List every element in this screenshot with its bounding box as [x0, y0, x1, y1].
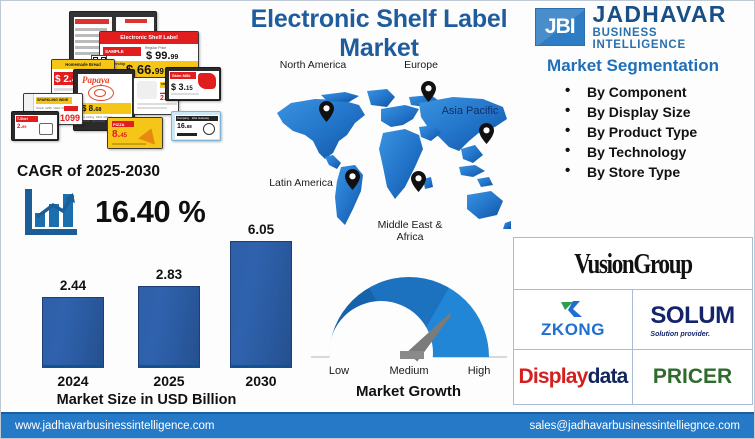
logo-company-name: JADHAVAR [593, 3, 753, 26]
pricer-wordmark: PRICER [653, 365, 732, 389]
vusiongroup-wordmark: VusionGroup [574, 247, 691, 280]
logo-zkong[interactable]: ZKONG [514, 290, 633, 349]
map-label-europe: Europe [391, 59, 451, 71]
bar-value-2024: 2.44 [42, 278, 104, 293]
displaydata-part-display: Display [518, 365, 587, 388]
bar-rect-2024 [42, 297, 104, 368]
zkong-mark-icon [560, 300, 586, 318]
zkong-wordmark: ZKONG [541, 320, 605, 340]
footer-bar: www.jadhavarbusinessintelligence.com sal… [1, 412, 754, 438]
infographic-root: Electronic Shelf Label SAMPLE Regular Pr… [0, 0, 755, 439]
map-label-latin-america: Latin America [261, 177, 341, 189]
jbi-logo-mark: JBI [535, 8, 585, 46]
bar-column-2024: 2.44 2024 [42, 297, 104, 368]
esl-product-image: Electronic Shelf Label SAMPLE Regular Pr… [7, 7, 225, 159]
bar-value-2025: 2.83 [138, 267, 200, 282]
gauge-tick-low: Low [309, 365, 369, 377]
logo-pricer[interactable]: PRICER [633, 350, 752, 404]
segmentation-item-technology: By Technology [565, 142, 753, 162]
bar-label-2024: 2024 [42, 373, 104, 389]
company-logo: JBI JADHAVAR BUSINESS INTELLIGENCE [535, 5, 753, 49]
bar-rect-2030 [230, 241, 292, 368]
map-label-asia-pacific: Asia Pacific [441, 105, 499, 119]
bar-rect-2025 [138, 286, 200, 368]
bar-chart-caption: Market Size in USD Billion [9, 392, 284, 408]
cagr-row: 16.40 % [23, 187, 205, 237]
esl-label-blue: Company ESL Gateway 16.88 [171, 111, 221, 141]
bar-chart-growth-icon [23, 187, 79, 237]
segmentation-title: Market Segmentation [513, 56, 753, 76]
bar-label-2030: 2030 [230, 373, 292, 389]
footer-email[interactable]: sales@jadhavarbusinessintelliegnce.com [530, 420, 740, 432]
bar-column-2030: 6.05 2030 [230, 241, 292, 368]
players-row-2: ZKONG SOLUM Solution provider. [514, 290, 752, 350]
logo-vusiongroup[interactable]: VusionGroup [514, 238, 752, 289]
logo-tagline: BUSINESS INTELLIGENCE [593, 28, 753, 51]
segmentation-item-component: By Component [565, 82, 753, 102]
displaydata-wordmark: Displaydata [518, 365, 627, 389]
gauge-tick-high: High [449, 365, 509, 377]
logo-solum[interactable]: SOLUM Solution provider. [633, 290, 752, 349]
segmentation-item-product-type: By Product Type [565, 122, 753, 142]
map-label-north-america: North America [267, 59, 359, 71]
map-pin-north-america[interactable] [319, 101, 334, 122]
segmentation-item-display-size: By Display Size [565, 102, 753, 122]
market-size-bar-chart: 2.44 2024 2.83 2025 6.05 2030 Market Siz… [9, 233, 289, 408]
solum-tagline: Solution provider. [650, 331, 710, 338]
gauge-tick-medium: Medium [379, 365, 439, 377]
displaydata-part-data: data [588, 365, 628, 388]
bar-column-2025: 2.83 2025 [138, 286, 200, 368]
jbi-logo-initials: JBI [545, 15, 575, 39]
esl-label-milk: Skim Milk $ 3.15 [165, 67, 221, 101]
gauge-caption: Market Growth [301, 383, 516, 400]
map-pin-middle-east-africa[interactable] [411, 171, 426, 192]
page-title: Electronic Shelf Label Market [229, 5, 529, 63]
map-label-middle-east-africa: Middle East & Africa [367, 219, 453, 243]
zkong-lockup: ZKONG [541, 300, 605, 340]
segmentation-list: By Component By Display Size By Product … [513, 82, 753, 182]
solum-lockup: SOLUM Solution provider. [650, 302, 734, 338]
market-growth-gauge: Low Medium High Market Growth [301, 273, 516, 408]
footer-website[interactable]: www.jadhavarbusinessintelligence.com [15, 420, 214, 432]
map-pin-asia-pacific[interactable] [479, 123, 494, 144]
solum-wordmark: SOLUM [650, 302, 734, 330]
key-players-grid: VusionGroup ZKONG SOLUM Sol [513, 237, 753, 405]
esl-label-pizza: PIZZA 8.45 [107, 117, 163, 149]
map-pin-europe[interactable] [421, 81, 436, 102]
market-segmentation-panel: Market Segmentation By Component By Disp… [513, 56, 753, 182]
world-map: North America Europe Asia Pacific Latin … [263, 59, 513, 255]
cagr-value: 16.40 % [95, 194, 205, 230]
gauge-needle-hub [400, 351, 424, 359]
map-pin-latin-america[interactable] [345, 169, 360, 190]
logo-wordmark: JADHAVAR BUSINESS INTELLIGENCE [593, 3, 753, 51]
segmentation-item-store-type: By Store Type [565, 162, 753, 182]
bar-label-2025: 2025 [138, 373, 200, 389]
logo-displaydata[interactable]: Displaydata [514, 350, 633, 404]
players-row-1: VusionGroup [514, 238, 752, 290]
players-row-3: Displaydata PRICER [514, 350, 752, 404]
cagr-heading: CAGR of 2025-2030 [17, 163, 160, 181]
esl-label-tshirt: T-Shirt 2.99 [11, 111, 59, 141]
